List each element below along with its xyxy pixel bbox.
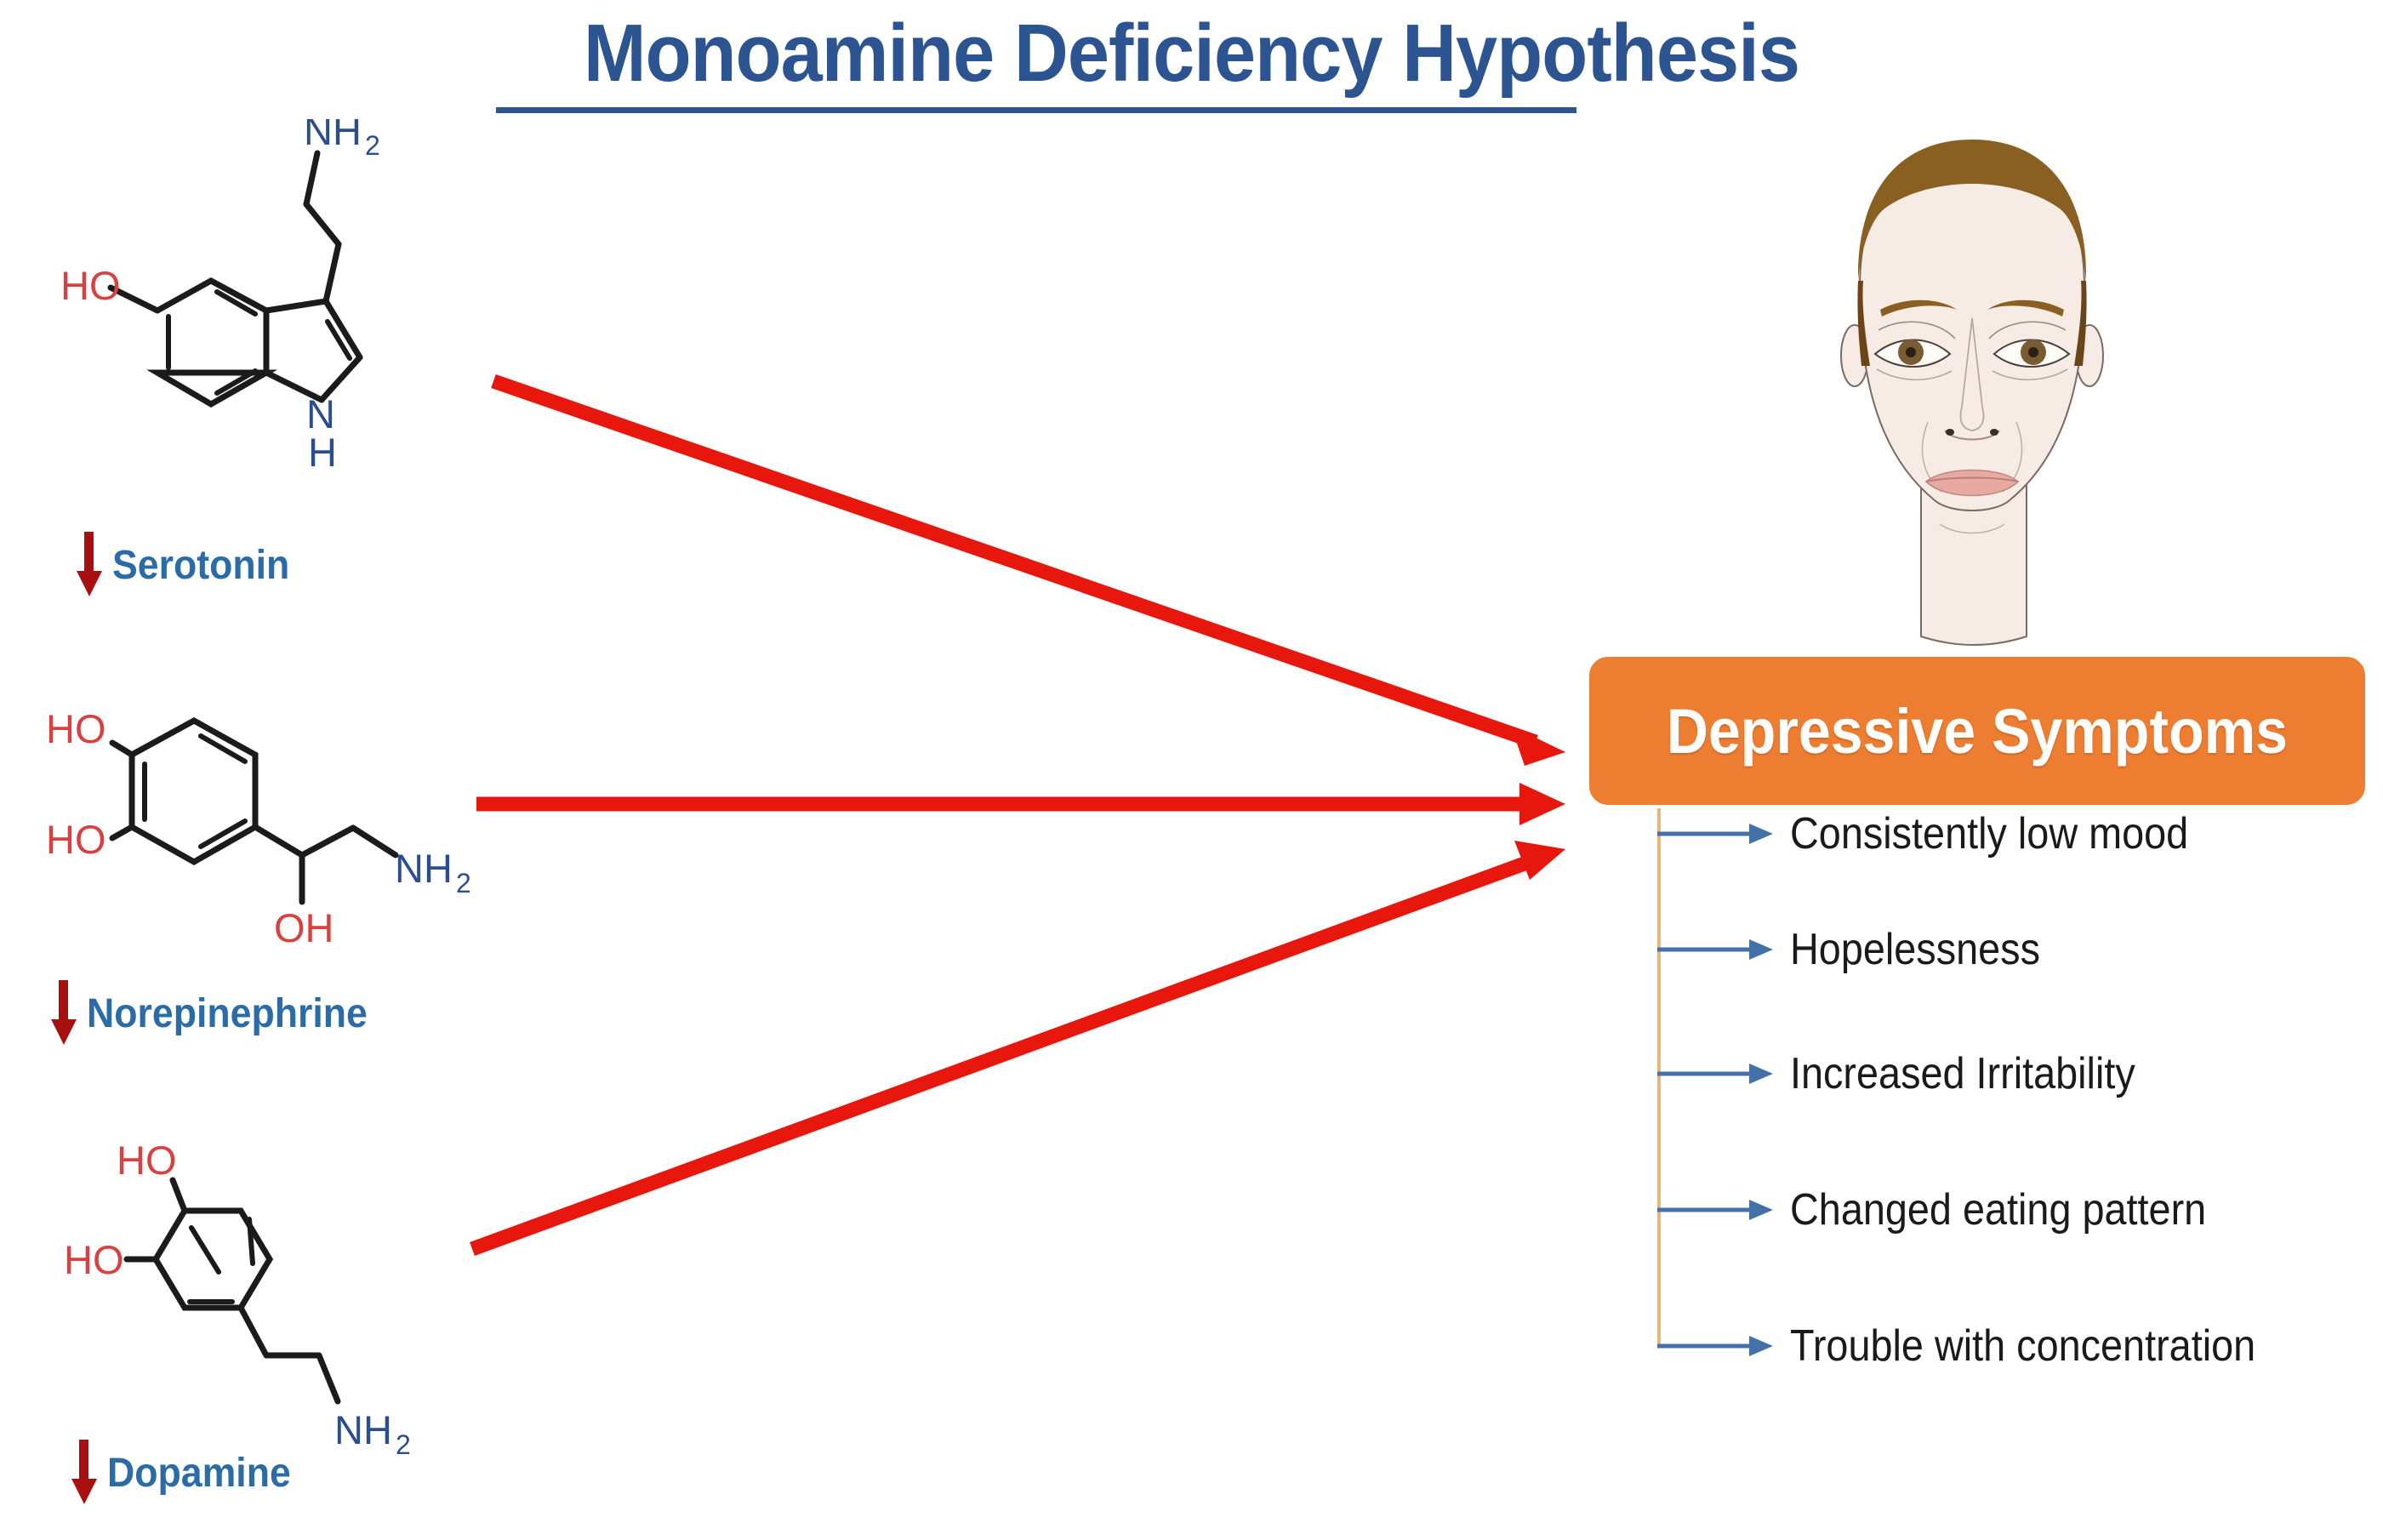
norepinephrine-atom-ho-1: HO <box>46 706 106 751</box>
molecule-norepinephrine: HO HO NH 2 OH <box>34 702 476 966</box>
molecule-serotonin: HO NH 2 N H <box>47 119 472 528</box>
right-pupil <box>2028 347 2038 357</box>
right-arrow-icon <box>1657 1193 1776 1227</box>
symptom-item-2: Hopelessness <box>1657 924 2068 975</box>
serotonin-atom-nh2-sub: 2 <box>365 130 380 161</box>
depressive-symptoms-label: Depressive Symptoms <box>1667 695 2288 767</box>
symptom-list: Consistently low mood Hopelessness Incre… <box>1657 808 2380 1361</box>
down-arrow-icon <box>49 980 78 1047</box>
symptom-text-5: Trouble with concentration <box>1790 1320 2255 1372</box>
left-nostril <box>1946 429 1954 436</box>
serotonin-label-row: Serotonin <box>75 532 303 598</box>
norepinephrine-label-row: Norepinephrine <box>49 980 389 1047</box>
dopamine-atom-ho-1: HO <box>117 1138 177 1183</box>
right-arrow-icon <box>1657 933 1776 967</box>
left-pupil <box>1906 347 1916 357</box>
norepinephrine-atom-nh2: NH <box>395 846 453 891</box>
dopamine-structure-svg: HO HO NH 2 <box>38 1127 447 1468</box>
symptom-item-3: Increased Irritability <box>1657 1048 2174 1099</box>
symptom-text-3: Increased Irritability <box>1790 1048 2135 1099</box>
molecule-label-norepinephrine: Norepinephrine <box>87 990 368 1037</box>
red-arrow-norepinephrine <box>476 783 1565 825</box>
serotonin-structure-svg: HO NH 2 N H <box>47 119 472 528</box>
depressed-face-svg <box>1821 126 2127 658</box>
norepinephrine-atom-nh2-sub: 2 <box>456 868 471 898</box>
face-illustration <box>1821 126 2127 662</box>
right-arrow-icon <box>1657 817 1776 851</box>
dopamine-atom-nh2-sub: 2 <box>396 1429 411 1460</box>
symptom-text-4: Changed eating pattern <box>1790 1184 2206 1235</box>
dopamine-label-row: Dopamine <box>70 1440 305 1506</box>
symptom-text-1: Consistently low mood <box>1790 808 2188 859</box>
molecule-label-dopamine: Dopamine <box>107 1450 291 1497</box>
norepinephrine-structure-svg: HO HO NH 2 OH <box>34 702 476 966</box>
down-arrow-icon <box>75 532 104 598</box>
symptom-item-1: Consistently low mood <box>1657 808 2232 859</box>
serotonin-atom-nh2: NH <box>304 119 362 153</box>
right-arrow-icon <box>1657 1329 1776 1363</box>
norepinephrine-atom-oh: OH <box>274 905 334 950</box>
right-arrow-icon <box>1657 1057 1776 1091</box>
page-title: Monoamine Deficiency Hypothesis <box>95 7 2288 100</box>
dopamine-atom-ho-2: HO <box>64 1237 124 1282</box>
red-arrow-dopamine <box>472 841 1565 1249</box>
molecule-dopamine: HO HO NH 2 <box>38 1127 447 1468</box>
symptom-item-5: Trouble with concentration <box>1657 1320 2307 1372</box>
serotonin-atom-h: H <box>308 430 337 475</box>
down-arrow-icon <box>70 1440 99 1506</box>
symptom-item-4: Changed eating pattern <box>1657 1184 2253 1235</box>
diagram-canvas: Monoamine Deficiency Hypothesis <box>0 0 2383 1540</box>
red-arrow-serotonin <box>493 381 1565 766</box>
symptom-text-2: Hopelessness <box>1790 924 2040 975</box>
right-nostril <box>1990 429 1998 436</box>
molecule-label-serotonin: Serotonin <box>112 542 289 589</box>
norepinephrine-atom-ho-2: HO <box>46 817 106 862</box>
serotonin-atom-ho: HO <box>60 263 121 308</box>
title-underline <box>496 107 1576 113</box>
depressive-symptoms-box: Depressive Symptoms <box>1589 657 2365 805</box>
dopamine-atom-nh2: NH <box>334 1407 392 1452</box>
